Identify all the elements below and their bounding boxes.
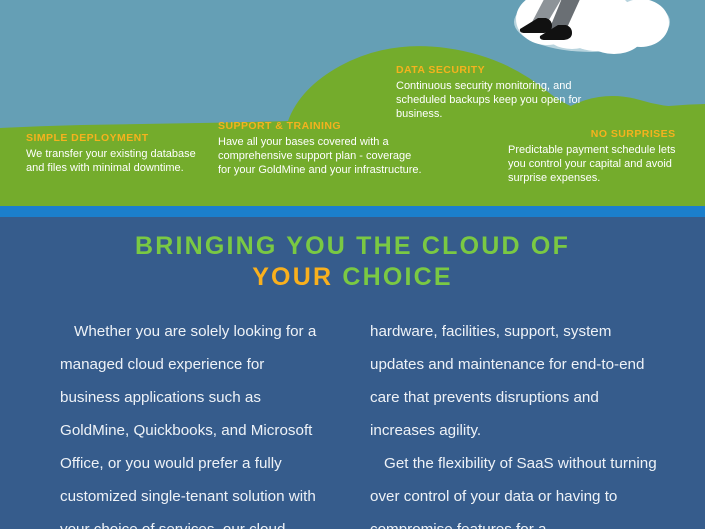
body-column-left: Whether you are solely looking for a man…	[0, 315, 352, 529]
headline-line-2: YOUR CHOICE	[0, 262, 705, 293]
callout-line: Continuous security monitoring, and	[396, 79, 581, 93]
body-column-right: hardware, facilities, support, system up…	[352, 315, 704, 529]
callout-line: We transfer your existing database	[26, 147, 196, 161]
callout-data-security: DATA SECURITY Continuous security monito…	[396, 64, 581, 122]
callout-line: Have all your bases covered with a	[218, 135, 422, 149]
callout-title: DATA SECURITY	[396, 64, 581, 76]
body-paragraph: Whether you are solely looking for a man…	[60, 315, 320, 529]
callout-line: scheduled backups keep you open for	[396, 93, 581, 107]
callout-simple-deployment: SIMPLE DEPLOYMENT We transfer your exist…	[26, 132, 196, 175]
headline-line-1: BRINGING YOU THE CLOUD OF	[0, 231, 705, 262]
callout-line: business.	[396, 107, 581, 121]
headline-word-choice: CHOICE	[342, 263, 452, 291]
lower-content-panel: BRINGING YOU THE CLOUD OF YOUR CHOICE Wh…	[0, 217, 705, 529]
callout-line: comprehensive support plan - coverage	[218, 149, 422, 163]
callout-title: SUPPORT & TRAINING	[218, 120, 422, 132]
callout-support-training: SUPPORT & TRAINING Have all your bases c…	[218, 120, 422, 178]
infographic-page: SIMPLE DEPLOYMENT We transfer your exist…	[0, 0, 705, 529]
callout-line: for your GoldMine and your infrastructur…	[218, 163, 422, 177]
callout-line: Predictable payment schedule lets	[508, 143, 676, 157]
callout-line: surprise expenses.	[508, 171, 676, 185]
callout-line: and files with minimal downtime.	[26, 161, 196, 175]
page-title: BRINGING YOU THE CLOUD OF YOUR CHOICE	[0, 217, 705, 293]
body-columns: Whether you are solely looking for a man…	[0, 315, 705, 529]
callout-title: NO SURPRISES	[508, 128, 676, 140]
body-paragraph: Get the flexibility of SaaS without turn…	[370, 447, 664, 529]
body-paragraph: hardware, facilities, support, system up…	[370, 315, 664, 447]
divider-band	[0, 206, 705, 217]
callout-no-surprises: NO SURPRISES Predictable payment schedul…	[508, 128, 676, 186]
callout-line: you control your capital and avoid	[508, 157, 676, 171]
callout-title: SIMPLE DEPLOYMENT	[26, 132, 196, 144]
hero-scene: SIMPLE DEPLOYMENT We transfer your exist…	[0, 0, 705, 206]
headline-word-your: YOUR	[252, 263, 333, 291]
